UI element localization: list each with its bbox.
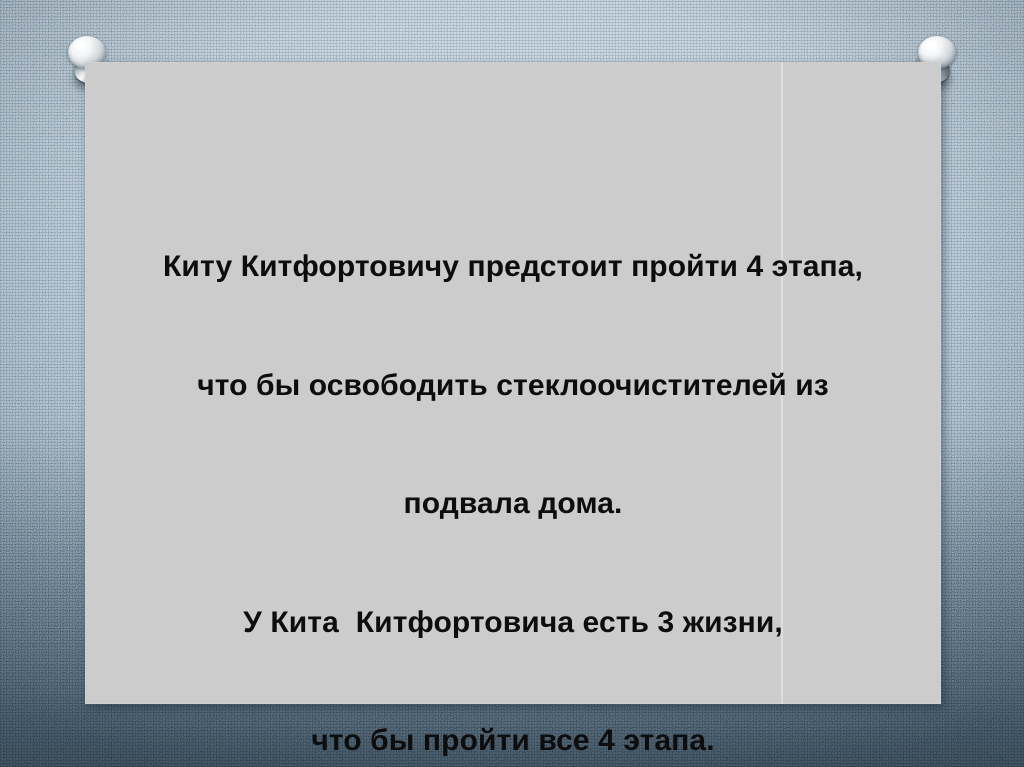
pushpin-right-highlight [925,41,937,50]
body-line: подвала дома. [109,484,917,524]
body-line: что бы пройти все 4 этапа. [109,721,917,761]
slide-body-text: Киту Китфортовичу предстоит пройти 4 эта… [85,168,941,767]
pushpin-left-highlight [75,41,87,50]
slide-stage: Киту Китфортовичу предстоит пройти 4 эта… [0,0,1024,767]
body-line: У Кита Китфортовича есть 3 жизни, [109,603,917,643]
slide-panel: Киту Китфортовичу предстоит пройти 4 эта… [85,62,941,704]
body-line: что бы освободить стеклоочистителей из [109,366,917,406]
body-line: Киту Китфортовичу предстоит пройти 4 эта… [109,247,917,287]
